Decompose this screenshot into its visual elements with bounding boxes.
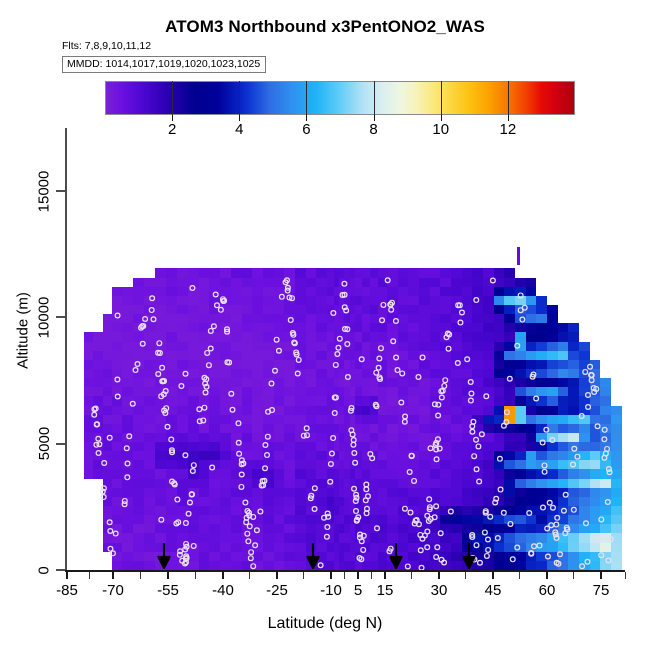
x-axis-tick-label: 30 <box>431 582 448 599</box>
x-axis-tick-label: 15 <box>377 582 394 599</box>
plot-root: ATOM3 Northbound x3PentONO2_WAS Flts: 7,… <box>0 0 650 650</box>
x-axis-tick-label: -10 <box>320 582 342 599</box>
x-axis-tick <box>330 572 332 579</box>
flight-marker-arrow <box>463 543 476 569</box>
x-axis-tick-label: -85 <box>56 582 78 599</box>
x-axis-tick-label: -70 <box>102 582 124 599</box>
x-axis-tick-label: -55 <box>157 582 179 599</box>
x-axis-minor-tick <box>411 572 412 579</box>
x-axis-tick-label: -25 <box>266 582 288 599</box>
colorbar-segment-divider <box>172 81 173 115</box>
y-axis-tick <box>56 190 65 192</box>
colorbar-segment-divider <box>441 81 442 115</box>
x-axis-minor-tick <box>625 572 626 579</box>
x-axis-tick-label: 60 <box>539 582 556 599</box>
y-axis-tick <box>56 443 65 445</box>
x-axis-minor-tick <box>344 572 345 579</box>
colorbar-segment-divider <box>306 81 307 115</box>
y-axis-title: Altitude (m) <box>15 261 32 401</box>
x-axis-tick <box>546 572 548 579</box>
flights-annotation: Flts: 7,8,9,10,11,12 <box>62 40 151 52</box>
x-axis-minor-tick <box>465 572 466 579</box>
flight-marker-arrow <box>390 543 403 569</box>
y-axis-tick-label: 15000 <box>35 170 52 212</box>
x-axis-minor-tick <box>371 572 372 579</box>
x-axis-minor-tick <box>573 572 574 579</box>
x-axis-tick <box>492 572 494 579</box>
x-axis-tick <box>357 572 359 579</box>
colorbar: 24681012 <box>105 81 575 115</box>
colorbar-gradient <box>105 81 575 115</box>
x-axis-minor-tick <box>195 572 196 579</box>
heatmap-canvas <box>65 128 625 570</box>
colorbar-segment-divider <box>239 81 240 115</box>
x-axis-minor-tick <box>89 572 90 579</box>
x-axis-minor-tick <box>519 572 520 579</box>
x-axis-tick <box>222 572 224 579</box>
x-axis-tick <box>66 572 68 579</box>
flight-marker-arrow <box>307 543 320 569</box>
x-axis-tick <box>438 572 440 579</box>
page-title: ATOM3 Northbound x3PentONO2_WAS <box>0 17 650 37</box>
x-axis-tick <box>600 572 602 579</box>
colorbar-segment-divider <box>508 81 509 115</box>
y-axis-line <box>65 128 67 571</box>
x-axis-tick <box>167 572 169 579</box>
x-axis-tick-label: 5 <box>354 582 362 599</box>
mmdd-annotation: MMDD: 1014,1017,1019,1020,1023,1025 <box>62 56 266 73</box>
x-axis-tick-label: 75 <box>593 582 610 599</box>
y-axis-tick-label: 10000 <box>35 297 52 339</box>
flight-marker-arrow <box>158 543 171 569</box>
x-axis-tick-label: 45 <box>485 582 502 599</box>
x-axis-tick <box>112 572 114 579</box>
x-axis-minor-tick <box>303 572 304 579</box>
x-axis-tick-label: -40 <box>212 582 234 599</box>
x-axis-tick <box>384 572 386 579</box>
x-axis-tick <box>276 572 278 579</box>
y-axis-tick <box>56 569 65 571</box>
x-axis-minor-tick <box>140 572 141 579</box>
x-axis-line <box>65 570 625 572</box>
x-axis-minor-tick <box>249 572 250 579</box>
y-axis-tick-label: 5000 <box>36 427 53 460</box>
colorbar-segment-divider <box>374 81 375 115</box>
y-axis-tick-label: 0 <box>36 566 53 574</box>
y-axis-tick <box>56 316 65 318</box>
x-axis-title: Latitude (deg N) <box>0 615 650 633</box>
